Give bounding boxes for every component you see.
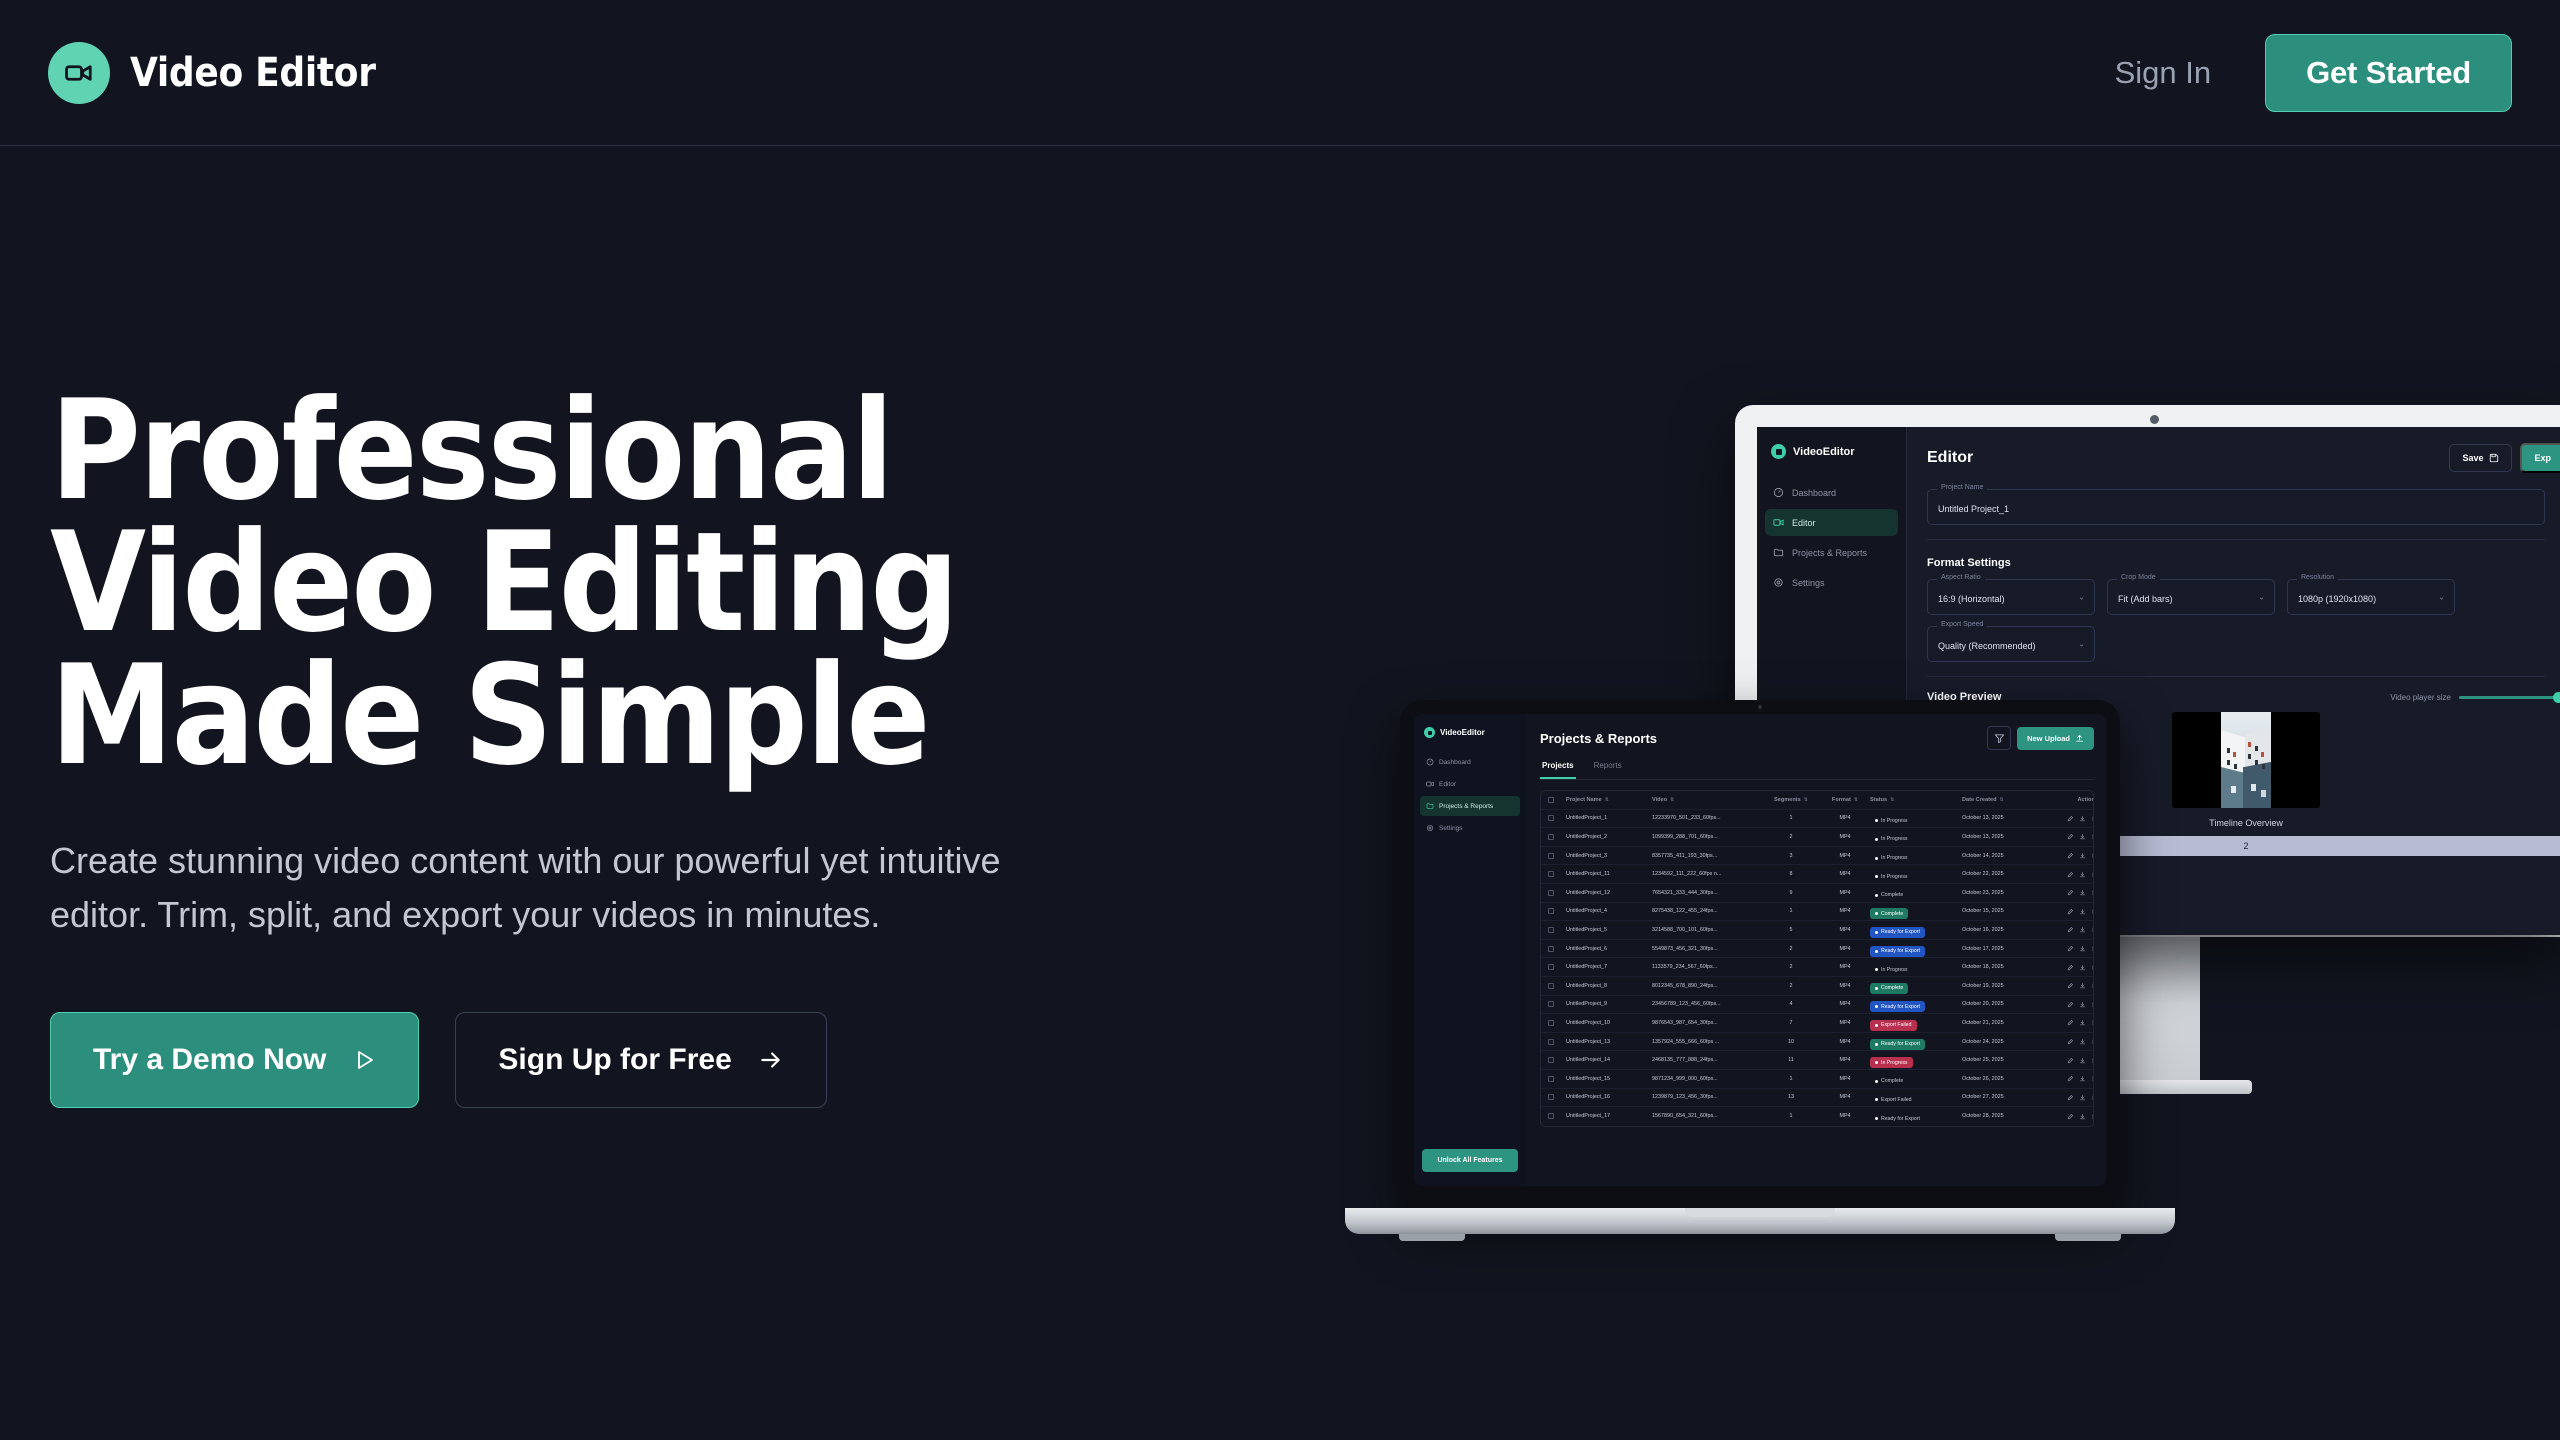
cell-video: 1234592_111_222_60fps n...: [1652, 871, 1762, 877]
sign-in-link[interactable]: Sign In: [2115, 55, 2212, 91]
table-row[interactable]: UntitledProject_127654321_333_444_30fps.…: [1541, 884, 2093, 903]
table-row[interactable]: UntitledProject_109876543_987_654_30fps.…: [1541, 1014, 2093, 1033]
cell-format: MP4: [1820, 853, 1870, 859]
resolution-label: Resolution: [2297, 574, 2338, 581]
monitor-page-title: Editor: [1927, 449, 1973, 467]
monitor-nav: Dashboard Editor Projects & Reports Sett…: [1757, 479, 1906, 596]
delete-icon[interactable]: [2091, 908, 2094, 915]
export-speed-select[interactable]: Export Speed Quality (Recommended) ⌄: [1927, 626, 2095, 662]
download-icon[interactable]: [2079, 1113, 2086, 1120]
sidebar-item-dashboard[interactable]: Dashboard: [1420, 752, 1520, 772]
cell-video: 1239879_123_456_30fps...: [1652, 1094, 1762, 1100]
edit-icon[interactable]: [2067, 1019, 2074, 1026]
table-row[interactable]: UntitledProject_71133579_234_567_60fps..…: [1541, 958, 2093, 977]
row-checkbox[interactable]: [1548, 1076, 1566, 1082]
row-checkbox[interactable]: [1548, 815, 1566, 821]
cell-project-name: UntitledProject_11: [1566, 871, 1652, 877]
cell-project-name: UntitledProject_12: [1566, 890, 1652, 896]
row-checkbox[interactable]: [1548, 908, 1566, 914]
cell-segments: 2: [1762, 834, 1820, 840]
edit-icon[interactable]: [2067, 1113, 2074, 1120]
table-row[interactable]: UntitledProject_159871234_999_000_60fps.…: [1541, 1070, 2093, 1089]
cell-segments: 11: [1762, 1057, 1820, 1063]
row-checkbox[interactable]: [1548, 1113, 1566, 1119]
delete-icon[interactable]: [2091, 852, 2094, 859]
cell-project-name: UntitledProject_1: [1566, 815, 1652, 821]
table-header-row: Project Name⇅ Video⇅ Segments⇅ Format⇅ S…: [1541, 791, 2093, 810]
cell-format: MP4: [1820, 908, 1870, 914]
save-button[interactable]: Save: [2449, 444, 2512, 472]
cell-date-created: October 14, 2025: [1962, 853, 2046, 859]
monitor-top-buttons: Save Exp: [2449, 443, 2560, 473]
row-checkbox[interactable]: [1548, 871, 1566, 877]
download-icon[interactable]: [2079, 1075, 2086, 1082]
download-icon[interactable]: [2079, 964, 2086, 971]
cell-segments: 3: [1762, 853, 1820, 859]
cell-date-created: October 28, 2025: [1962, 1113, 2046, 1119]
laptop-foot-left: [1399, 1234, 1465, 1241]
edit-icon[interactable]: [2067, 1057, 2074, 1064]
cell-video: 1133579_234_567_60fps...: [1652, 964, 1762, 970]
sidebar-label: Dashboard: [1439, 759, 1471, 766]
header-actions: Sign In Get Started: [2115, 34, 2512, 112]
laptop-app-logo-label: VideoEditor: [1440, 728, 1485, 737]
brand-name: Video Editor: [130, 50, 376, 96]
row-checkbox[interactable]: [1548, 946, 1566, 952]
hero-section: Professional Video Editing Made Simple C…: [50, 385, 1200, 1108]
cell-status: Export Failed: [1870, 1014, 1962, 1032]
sidebar-label: Projects & Reports: [1439, 803, 1493, 810]
crop-mode-value: Fit (Add bars): [2118, 594, 2173, 604]
row-checkbox[interactable]: [1548, 983, 1566, 989]
divider: [1927, 676, 2545, 677]
hero-subtitle: Create stunning video content with our p…: [50, 834, 1140, 942]
laptop-page-title: Projects & Reports: [1540, 731, 1657, 746]
table-row[interactable]: UntitledProject_88012345_678_890_24fps..…: [1541, 977, 2093, 996]
edit-icon[interactable]: [2067, 1075, 2074, 1082]
gear-icon: [1426, 824, 1434, 832]
cell-format: MP4: [1820, 1039, 1870, 1045]
try-demo-button[interactable]: Try a Demo Now: [50, 1012, 419, 1108]
column-header-video[interactable]: Video⇅: [1652, 797, 1762, 803]
video-frame-image: [2221, 712, 2271, 808]
cell-actions: [2046, 833, 2094, 840]
chevron-down-icon: ⌄: [2078, 593, 2085, 602]
cell-status: Ready for Export: [1870, 921, 1962, 939]
sidebar-label: Dashboard: [1792, 488, 1836, 498]
row-checkbox[interactable]: [1548, 1039, 1566, 1045]
delete-icon[interactable]: [2091, 1038, 2094, 1045]
cell-status: Complete: [1870, 1070, 1962, 1088]
aspect-ratio-value: 16:9 (Horizontal): [1938, 594, 2005, 604]
status-badge: Ready for Export: [1870, 1039, 1925, 1050]
resolution-value: 1080p (1920x1080): [2298, 594, 2376, 604]
download-icon[interactable]: [2079, 945, 2086, 952]
delete-icon[interactable]: [2091, 926, 2094, 933]
cell-status: Ready for Export: [1870, 1033, 1962, 1051]
delete-icon[interactable]: [2091, 982, 2094, 989]
cell-date-created: October 18, 2025: [1962, 964, 2046, 970]
download-icon[interactable]: [2079, 1094, 2086, 1101]
cell-date-created: October 24, 2025: [1962, 1039, 2046, 1045]
status-badge: In Progress: [1870, 1057, 1913, 1068]
cell-actions: [2046, 908, 2094, 915]
page-title: Professional Video Editing Made Simple: [50, 385, 1200, 782]
cell-project-name: UntitledProject_5: [1566, 927, 1652, 933]
delete-icon[interactable]: [2091, 889, 2094, 896]
sidebar-item-settings[interactable]: Settings: [1420, 818, 1520, 838]
delete-icon[interactable]: [2091, 1057, 2094, 1064]
edit-icon[interactable]: [2067, 1001, 2074, 1008]
row-checkbox[interactable]: [1548, 964, 1566, 970]
download-icon[interactable]: [2079, 852, 2086, 859]
column-header-format[interactable]: Format⇅: [1820, 797, 1870, 803]
download-icon[interactable]: [2079, 815, 2086, 822]
delete-icon[interactable]: [2091, 815, 2094, 822]
status-badge: Ready for Export: [1870, 1001, 1925, 1012]
laptop-foot-right: [2055, 1234, 2121, 1241]
cell-actions: [2046, 1113, 2094, 1120]
tab-projects[interactable]: Projects: [1540, 761, 1576, 779]
column-header-segments[interactable]: Segments⇅: [1762, 797, 1820, 803]
cell-format: MP4: [1820, 1113, 1870, 1119]
cell-video: 2468135_777_888_24fps...: [1652, 1057, 1762, 1063]
cell-format: MP4: [1820, 983, 1870, 989]
cell-segments: 2: [1762, 983, 1820, 989]
cell-date-created: October 15, 2025: [1962, 908, 2046, 914]
unlock-all-features-button[interactable]: Unlock All Features: [1422, 1149, 1518, 1172]
cell-actions: [2046, 945, 2094, 952]
sign-up-label: Sign Up for Free: [498, 1043, 731, 1077]
laptop-tabs: Projects Reports: [1540, 761, 2094, 780]
status-badge: In Progress: [1870, 834, 1913, 845]
save-label: Save: [2462, 453, 2483, 463]
cell-actions: [2046, 1094, 2094, 1101]
sidebar-label: Settings: [1792, 578, 1825, 588]
monitor-topbar: Editor Save Exp: [1927, 443, 2560, 473]
filter-icon: [1994, 733, 2005, 744]
cell-actions: [2046, 1019, 2094, 1026]
status-badge: In Progress: [1870, 871, 1913, 882]
cell-segments: 8: [1762, 871, 1820, 877]
table-row[interactable]: UntitledProject_161239879_123_456_30fps.…: [1541, 1089, 2093, 1108]
cell-segments: 1: [1762, 908, 1820, 914]
delete-icon[interactable]: [2091, 1075, 2094, 1082]
export-button[interactable]: Exp: [2520, 443, 2560, 473]
cell-segments: 1: [1762, 1076, 1820, 1082]
cell-project-name: UntitledProject_4: [1566, 908, 1652, 914]
row-checkbox[interactable]: [1548, 1094, 1566, 1100]
cell-actions: [2046, 1038, 2094, 1045]
sidebar-label: Projects & Reports: [1792, 548, 1867, 558]
cell-segments: 5: [1762, 927, 1820, 933]
edit-icon[interactable]: [2067, 926, 2074, 933]
player-size-label: Video player size: [2390, 693, 2451, 702]
row-checkbox[interactable]: [1548, 890, 1566, 896]
video-camera-icon: [48, 42, 110, 104]
export-speed-value: Quality (Recommended): [1938, 641, 2036, 651]
laptop-base-notch: [1685, 1208, 1835, 1217]
player-size-control: Video player size: [2390, 693, 2560, 702]
cell-video: 1357924_555_666_60fps ...: [1652, 1039, 1762, 1045]
cell-format: MP4: [1820, 1057, 1870, 1063]
project-name-label: Project Name: [1937, 484, 1987, 491]
edit-icon[interactable]: [2067, 1094, 2074, 1101]
table-row[interactable]: UntitledProject_171567890_654_321_60fps.…: [1541, 1107, 2093, 1126]
brand-logo[interactable]: Video Editor: [48, 42, 376, 104]
download-icon[interactable]: [2079, 908, 2086, 915]
cell-date-created: October 21, 2025: [1962, 1020, 2046, 1026]
table-row[interactable]: UntitledProject_48275438_122_455_24fps..…: [1541, 903, 2093, 922]
laptop-page-header: Projects & Reports New Upload: [1540, 726, 2094, 750]
monitor-app-logo-label: VideoEditor: [1793, 446, 1855, 458]
cell-project-name: UntitledProject_8: [1566, 983, 1652, 989]
cell-segments: 2: [1762, 946, 1820, 952]
cell-video: 9871234_999_000_60fps...: [1652, 1076, 1762, 1082]
video-icon: [1426, 780, 1434, 788]
folder-icon: [1426, 802, 1434, 810]
format-settings-row-1: Aspect Ratio 16:9 (Horizontal) ⌄ Crop Mo…: [1927, 579, 2560, 615]
sidebar-item-settings[interactable]: Settings: [1765, 569, 1898, 596]
cell-format: MP4: [1820, 834, 1870, 840]
folder-icon: [1773, 547, 1784, 558]
download-icon[interactable]: [2079, 1038, 2086, 1045]
chevron-down-icon: ⌄: [2438, 593, 2445, 602]
cell-video: 9876543_987_654_30fps...: [1652, 1020, 1762, 1026]
table-row[interactable]: UntitledProject_65549873_456_321_30fps..…: [1541, 940, 2093, 959]
download-icon[interactable]: [2079, 889, 2086, 896]
row-checkbox[interactable]: [1548, 1020, 1566, 1026]
crop-mode-select[interactable]: Crop Mode Fit (Add bars) ⌄: [2107, 579, 2275, 615]
row-checkbox[interactable]: [1548, 853, 1566, 859]
gear-icon: [1773, 577, 1784, 588]
monitor-app-logo: VideoEditor: [1757, 444, 1906, 479]
row-checkbox[interactable]: [1548, 927, 1566, 933]
cell-format: MP4: [1820, 1001, 1870, 1007]
sidebar-item-editor[interactable]: Editor: [1765, 509, 1898, 536]
export-speed-label: Export Speed: [1937, 621, 1987, 628]
project-name-field[interactable]: Project Name Untitled Project_1: [1927, 489, 2545, 525]
divider: [1927, 539, 2545, 540]
cell-project-name: UntitledProject_16: [1566, 1094, 1652, 1100]
edit-icon[interactable]: [2067, 964, 2074, 971]
new-upload-button[interactable]: New Upload: [2017, 727, 2094, 750]
delete-icon[interactable]: [2091, 1094, 2094, 1101]
cell-segments: 13: [1762, 1094, 1820, 1100]
cell-actions: [2046, 815, 2094, 822]
laptop-nav: Dashboard Editor Projects & Reports: [1414, 752, 1526, 838]
edit-icon[interactable]: [2067, 982, 2074, 989]
cell-status: Complete: [1870, 884, 1962, 902]
cell-video: 3214588_700_101_60fps...: [1652, 927, 1762, 933]
cell-status: In Progress: [1870, 809, 1962, 827]
download-icon[interactable]: [2079, 871, 2086, 878]
cell-video: 8275438_122_455_24fps...: [1652, 908, 1762, 914]
cell-project-name: UntitledProject_15: [1566, 1076, 1652, 1082]
new-upload-label: New Upload: [2027, 734, 2070, 743]
sign-up-button[interactable]: Sign Up for Free: [455, 1012, 826, 1108]
status-badge: In Progress: [1870, 815, 1913, 826]
laptop-screen: VideoEditor Dashboard Editor: [1414, 714, 2106, 1186]
cell-segments: 1: [1762, 1113, 1820, 1119]
laptop-notch: [1705, 700, 1815, 714]
column-header-status[interactable]: Status⇅: [1870, 797, 1962, 803]
gauge-icon: [1426, 758, 1434, 766]
aspect-ratio-label: Aspect Ratio: [1937, 574, 1985, 581]
cell-status: Complete: [1870, 902, 1962, 920]
table-row[interactable]: UntitledProject_53214588_700_101_60fps..…: [1541, 921, 2093, 940]
tab-reports[interactable]: Reports: [1592, 761, 1624, 779]
cell-segments: 2: [1762, 964, 1820, 970]
cell-video: 1567890_654_321_60fps...: [1652, 1113, 1762, 1119]
edit-icon[interactable]: [2067, 908, 2074, 915]
column-header-project-name[interactable]: Project Name⇅: [1566, 797, 1652, 803]
cell-segments: 7: [1762, 1020, 1820, 1026]
cell-date-created: October 16, 2025: [1962, 927, 2046, 933]
download-icon[interactable]: [2079, 982, 2086, 989]
edit-icon[interactable]: [2067, 945, 2074, 952]
cell-segments: 10: [1762, 1039, 1820, 1045]
table-body: UntitledProject_112233970_501_233_60fps.…: [1541, 810, 2093, 1126]
sidebar-item-projects-reports[interactable]: Projects & Reports: [1765, 539, 1898, 566]
cell-format: MP4: [1820, 871, 1870, 877]
cell-status: In Progress: [1870, 828, 1962, 846]
device-mockup-scene: VideoEditor Dashboard Editor Projects & …: [1330, 380, 2560, 1260]
column-header-date-created[interactable]: Date Created⇅: [1962, 797, 2046, 803]
save-disk-icon: [2489, 453, 2499, 463]
cell-format: MP4: [1820, 1020, 1870, 1026]
cell-video: 12233970_501_233_60fps...: [1652, 815, 1762, 821]
cell-status: In Progress: [1870, 1051, 1962, 1069]
table-row[interactable]: UntitledProject_111234592_111_222_60fps …: [1541, 865, 2093, 884]
download-icon[interactable]: [2079, 1019, 2086, 1026]
cell-status: Ready for Export: [1870, 995, 1962, 1013]
sidebar-item-editor[interactable]: Editor: [1420, 774, 1520, 794]
cell-segments: 4: [1762, 1001, 1820, 1007]
cell-project-name: UntitledProject_14: [1566, 1057, 1652, 1063]
cell-format: MP4: [1820, 964, 1870, 970]
cell-actions: [2046, 871, 2094, 878]
row-checkbox[interactable]: [1548, 1001, 1566, 1007]
delete-icon[interactable]: [2091, 1019, 2094, 1026]
row-checkbox[interactable]: [1548, 834, 1566, 840]
edit-icon[interactable]: [2067, 815, 2074, 822]
download-icon[interactable]: [2079, 833, 2086, 840]
table-row[interactable]: UntitledProject_112233970_501_233_60fps.…: [1541, 810, 2093, 829]
status-badge: Complete: [1870, 890, 1908, 901]
try-demo-label: Try a Demo Now: [93, 1043, 326, 1077]
cell-status: In Progress: [1870, 958, 1962, 976]
laptop-app-logo: VideoEditor: [1414, 727, 1526, 752]
download-icon[interactable]: [2079, 1001, 2086, 1008]
video-icon: [1771, 444, 1786, 459]
aspect-ratio-select[interactable]: Aspect Ratio 16:9 (Horizontal) ⌄: [1927, 579, 2095, 615]
status-badge: Export Failed: [1870, 1020, 1917, 1031]
delete-icon[interactable]: [2091, 1001, 2094, 1008]
delete-icon[interactable]: [2091, 945, 2094, 952]
projects-table: Project Name⇅ Video⇅ Segments⇅ Format⇅ S…: [1540, 790, 2094, 1127]
get-started-button[interactable]: Get Started: [2265, 34, 2512, 112]
status-badge: In Progress: [1870, 964, 1913, 975]
cell-date-created: October 26, 2025: [1962, 1076, 2046, 1082]
table-row[interactable]: UntitledProject_21099399_288_701_60fps..…: [1541, 828, 2093, 847]
laptop-header-actions: New Upload: [1987, 726, 2094, 750]
video-player[interactable]: [2172, 712, 2320, 808]
sidebar-item-dashboard[interactable]: Dashboard: [1765, 479, 1898, 506]
row-checkbox[interactable]: [1548, 1057, 1566, 1063]
chevron-down-icon: ⌄: [2078, 640, 2085, 649]
download-icon[interactable]: [2079, 1057, 2086, 1064]
sidebar-item-projects-reports[interactable]: Projects & Reports: [1420, 796, 1520, 816]
crop-mode-label: Crop Mode: [2117, 574, 2160, 581]
cell-video: 5549873_456_321_30fps...: [1652, 946, 1762, 952]
cell-video: 23456789_123_456_60fps...: [1652, 1001, 1762, 1007]
sidebar-label: Editor: [1792, 518, 1816, 528]
resolution-select[interactable]: Resolution 1080p (1920x1080) ⌄: [2287, 579, 2455, 615]
cell-project-name: UntitledProject_13: [1566, 1039, 1652, 1045]
laptop-device: VideoEditor Dashboard Editor: [1345, 700, 2175, 1300]
laptop-sidebar: VideoEditor Dashboard Editor: [1414, 714, 1526, 1186]
cell-status: Export Failed: [1870, 1088, 1962, 1106]
edit-icon[interactable]: [2067, 833, 2074, 840]
cell-actions: [2046, 926, 2094, 933]
table-row[interactable]: UntitledProject_923456789_123_456_60fps.…: [1541, 996, 2093, 1015]
cell-date-created: October 13, 2025: [1962, 834, 2046, 840]
status-badge: Complete: [1870, 983, 1908, 994]
play-triangle-icon: [352, 1048, 376, 1072]
cell-date-created: October 23, 2025: [1962, 890, 2046, 896]
format-settings-row-2: Export Speed Quality (Recommended) ⌄: [1927, 626, 2560, 662]
table-row[interactable]: UntitledProject_131357924_555_666_60fps …: [1541, 1033, 2093, 1052]
delete-icon[interactable]: [2091, 964, 2094, 971]
delete-icon[interactable]: [2091, 871, 2094, 878]
cell-project-name: UntitledProject_2: [1566, 834, 1652, 840]
cell-status: In Progress: [1870, 865, 1962, 883]
cell-format: MP4: [1820, 1076, 1870, 1082]
upload-icon: [2075, 734, 2084, 743]
video-icon: [1424, 727, 1435, 738]
table-row[interactable]: UntitledProject_38357735_411_193_30fps..…: [1541, 847, 2093, 866]
camera-dot-icon: [2150, 415, 2159, 424]
edit-icon[interactable]: [2067, 889, 2074, 896]
cell-project-name: UntitledProject_10: [1566, 1020, 1652, 1026]
cell-date-created: October 25, 2025: [1962, 1057, 2046, 1063]
status-badge: Export Failed: [1870, 1094, 1917, 1105]
status-badge: Ready for Export: [1870, 1113, 1925, 1124]
cell-status: Complete: [1870, 977, 1962, 995]
cell-actions: [2046, 1057, 2094, 1064]
download-icon[interactable]: [2079, 926, 2086, 933]
edit-icon[interactable]: [2067, 871, 2074, 878]
cell-project-name: UntitledProject_9: [1566, 1001, 1652, 1007]
delete-icon[interactable]: [2091, 1113, 2094, 1120]
filter-button[interactable]: [1987, 726, 2011, 750]
cell-status: Ready for Export: [1870, 1107, 1962, 1125]
cell-date-created: October 22, 2025: [1962, 871, 2046, 877]
cell-format: MP4: [1820, 815, 1870, 821]
delete-icon[interactable]: [2091, 833, 2094, 840]
edit-icon[interactable]: [2067, 852, 2074, 859]
status-badge: Complete: [1870, 908, 1908, 919]
select-all-checkbox[interactable]: [1548, 797, 1566, 803]
arrow-right-icon: [758, 1047, 784, 1073]
cell-project-name: UntitledProject_17: [1566, 1113, 1652, 1119]
table-row[interactable]: UntitledProject_142468135_777_888_24fps.…: [1541, 1051, 2093, 1070]
cell-date-created: October 19, 2025: [1962, 983, 2046, 989]
player-size-slider[interactable]: [2459, 696, 2559, 699]
edit-icon[interactable]: [2067, 1038, 2074, 1045]
cell-format: MP4: [1820, 927, 1870, 933]
